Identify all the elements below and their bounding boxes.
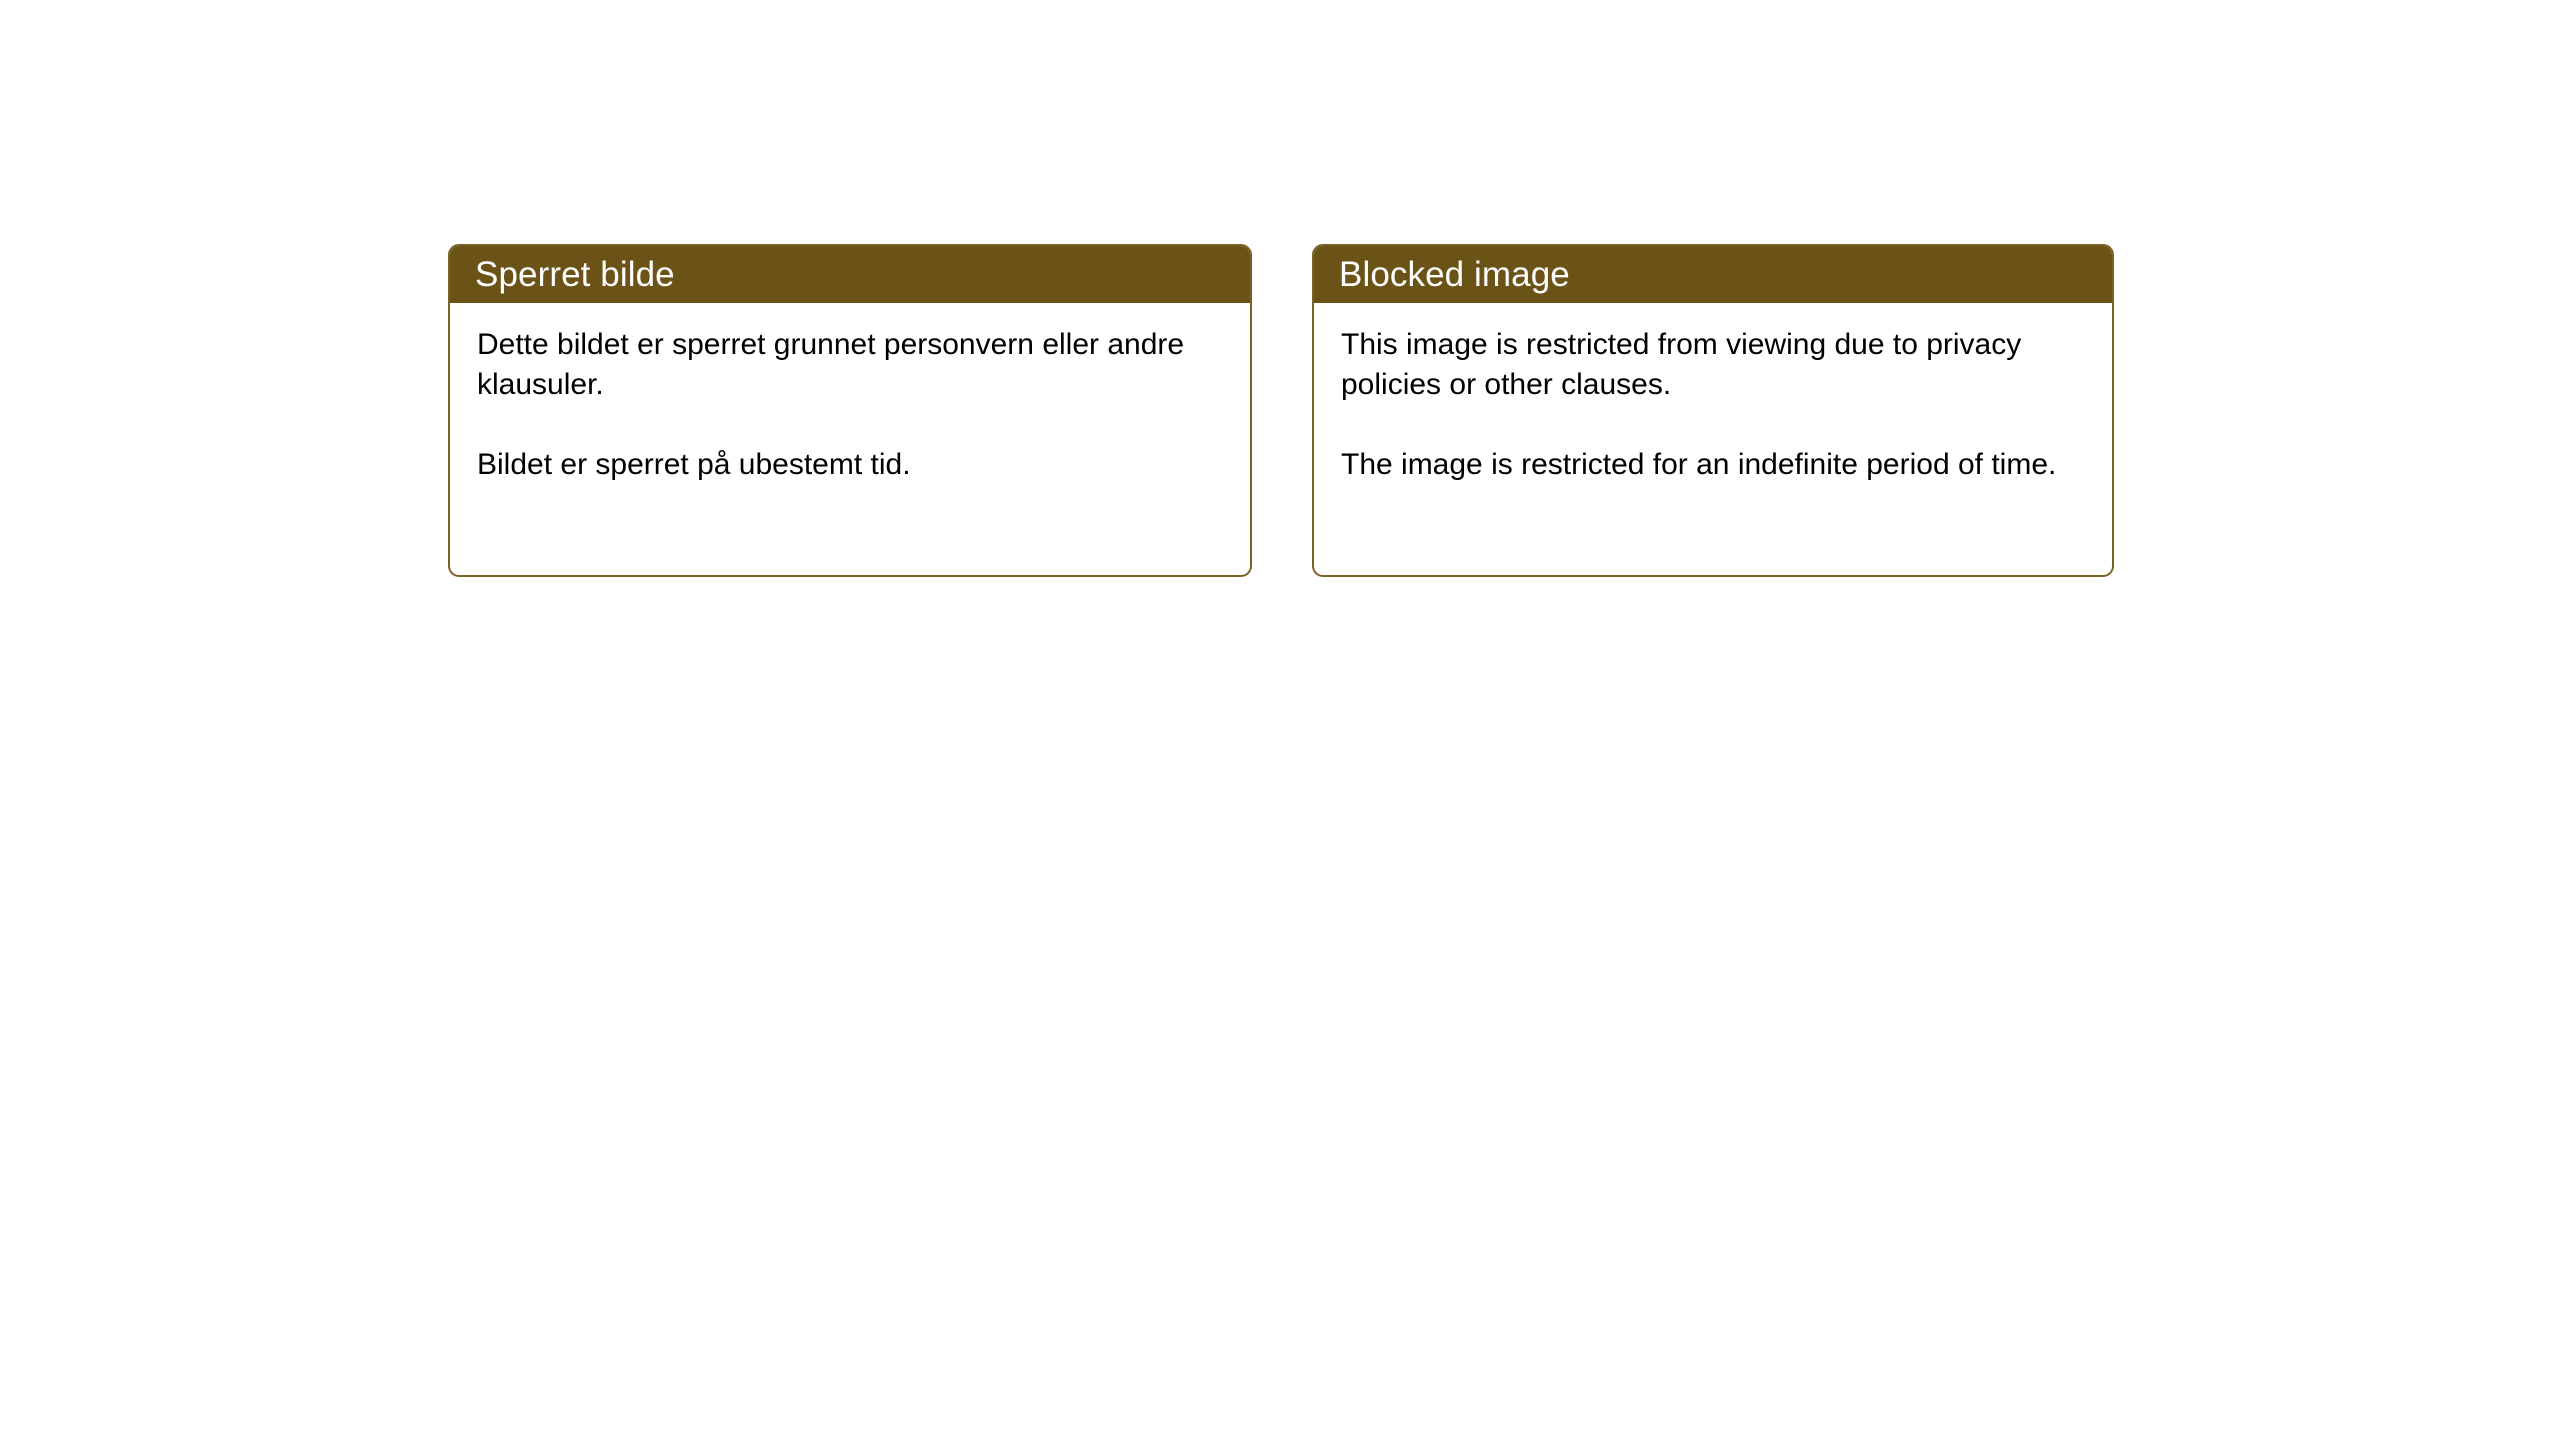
page-canvas: Sperret bilde Dette bildet er sperret gr… xyxy=(0,0,2560,1440)
card-paragraph-duration-norwegian: Bildet er sperret på ubestemt tid. xyxy=(477,445,1224,485)
card-header-english: Blocked image xyxy=(1314,246,2112,303)
card-body-english: This image is restricted from viewing du… xyxy=(1314,303,2112,485)
card-paragraph-reason-norwegian: Dette bildet er sperret grunnet personve… xyxy=(477,325,1224,405)
card-body-norwegian: Dette bildet er sperret grunnet personve… xyxy=(450,303,1250,485)
card-paragraph-reason-english: This image is restricted from viewing du… xyxy=(1341,325,2086,405)
card-paragraph-duration-english: The image is restricted for an indefinit… xyxy=(1341,445,2086,485)
card-title-norwegian: Sperret bilde xyxy=(475,257,675,292)
card-title-english: Blocked image xyxy=(1339,257,1570,292)
card-header-norwegian: Sperret bilde xyxy=(450,246,1250,303)
blocked-image-notice-card-english: Blocked image This image is restricted f… xyxy=(1312,244,2114,577)
blocked-image-notice-card-norwegian: Sperret bilde Dette bildet er sperret gr… xyxy=(448,244,1252,577)
